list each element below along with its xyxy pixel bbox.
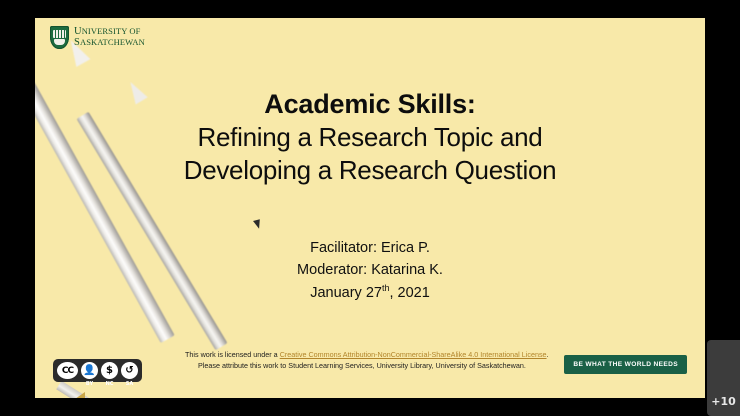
license-suffix: . xyxy=(547,350,549,359)
cc-sa-label: SA xyxy=(126,381,133,387)
presentation-slide: UNIVERSITY OF SASKATCHEWAN Academic Skil… xyxy=(35,18,705,398)
facilitator-line: Facilitator: Erica P. xyxy=(35,238,705,260)
brand-tagline-label: BE WHAT THE WORLD NEEDS xyxy=(573,361,678,368)
slide-title-line1: Refining a Research Topic and xyxy=(35,121,705,154)
cc-sa-glyph: ↺ xyxy=(125,365,133,376)
presenter-info: Facilitator: Erica P. Moderator: Katarin… xyxy=(35,238,705,304)
cc-nc-glyph: $ xyxy=(106,365,113,376)
mouse-cursor-icon xyxy=(253,219,262,229)
university-shield-icon xyxy=(50,26,69,49)
license-prefix: This work is licensed under a xyxy=(185,350,280,359)
creative-commons-badge[interactable]: CC 👤BY $NC ↺SA xyxy=(53,359,142,382)
date-year: , 2021 xyxy=(389,284,429,300)
university-wordmark: UNIVERSITY OF SASKATCHEWAN xyxy=(74,27,145,48)
cc-icon-label: CC xyxy=(62,366,73,376)
cc-sa-icon: ↺SA xyxy=(120,361,139,380)
wordmark-line1-cap: U xyxy=(74,26,82,37)
pencils-artwork xyxy=(35,18,705,398)
wordmark-line1-rest: NIVERSITY OF xyxy=(82,26,141,36)
cc-nc-label: NC xyxy=(106,381,114,387)
date-line: January 27th, 2021 xyxy=(35,282,705,305)
brand-tagline-button[interactable]: BE WHAT THE WORLD NEEDS xyxy=(564,355,687,374)
cc-by-label: BY xyxy=(86,381,93,387)
cc-nc-icon: $NC xyxy=(100,361,119,380)
slide-title-main: Academic Skills: xyxy=(35,88,705,121)
cc-by-icon: 👤BY xyxy=(80,361,99,380)
cc-icon: CC xyxy=(56,361,79,380)
license-text: This work is licensed under a Creative C… xyxy=(185,349,605,371)
license-line1: This work is licensed under a Creative C… xyxy=(185,349,605,360)
moderator-line: Moderator: Katarina K. xyxy=(35,260,705,282)
wordmark-line2-rest: ASKATCHEWAN xyxy=(80,37,145,47)
skip-forward-label: +10 xyxy=(711,395,736,408)
date-month-day: January 27 xyxy=(310,284,382,300)
slide-title-line2: Developing a Research Question xyxy=(35,154,705,187)
license-attribution: Please attribute this work to Student Le… xyxy=(185,360,605,371)
slide-title-block: Academic Skills: Refining a Research Top… xyxy=(35,88,705,186)
university-logo: UNIVERSITY OF SASKATCHEWAN xyxy=(50,26,145,49)
left-arrow-icon xyxy=(72,392,85,398)
license-link[interactable]: Creative Commons Attribution-NonCommerci… xyxy=(280,350,547,359)
video-player[interactable]: UNIVERSITY OF SASKATCHEWAN Academic Skil… xyxy=(0,0,740,416)
skip-forward-10-button[interactable]: +10 xyxy=(707,340,740,416)
